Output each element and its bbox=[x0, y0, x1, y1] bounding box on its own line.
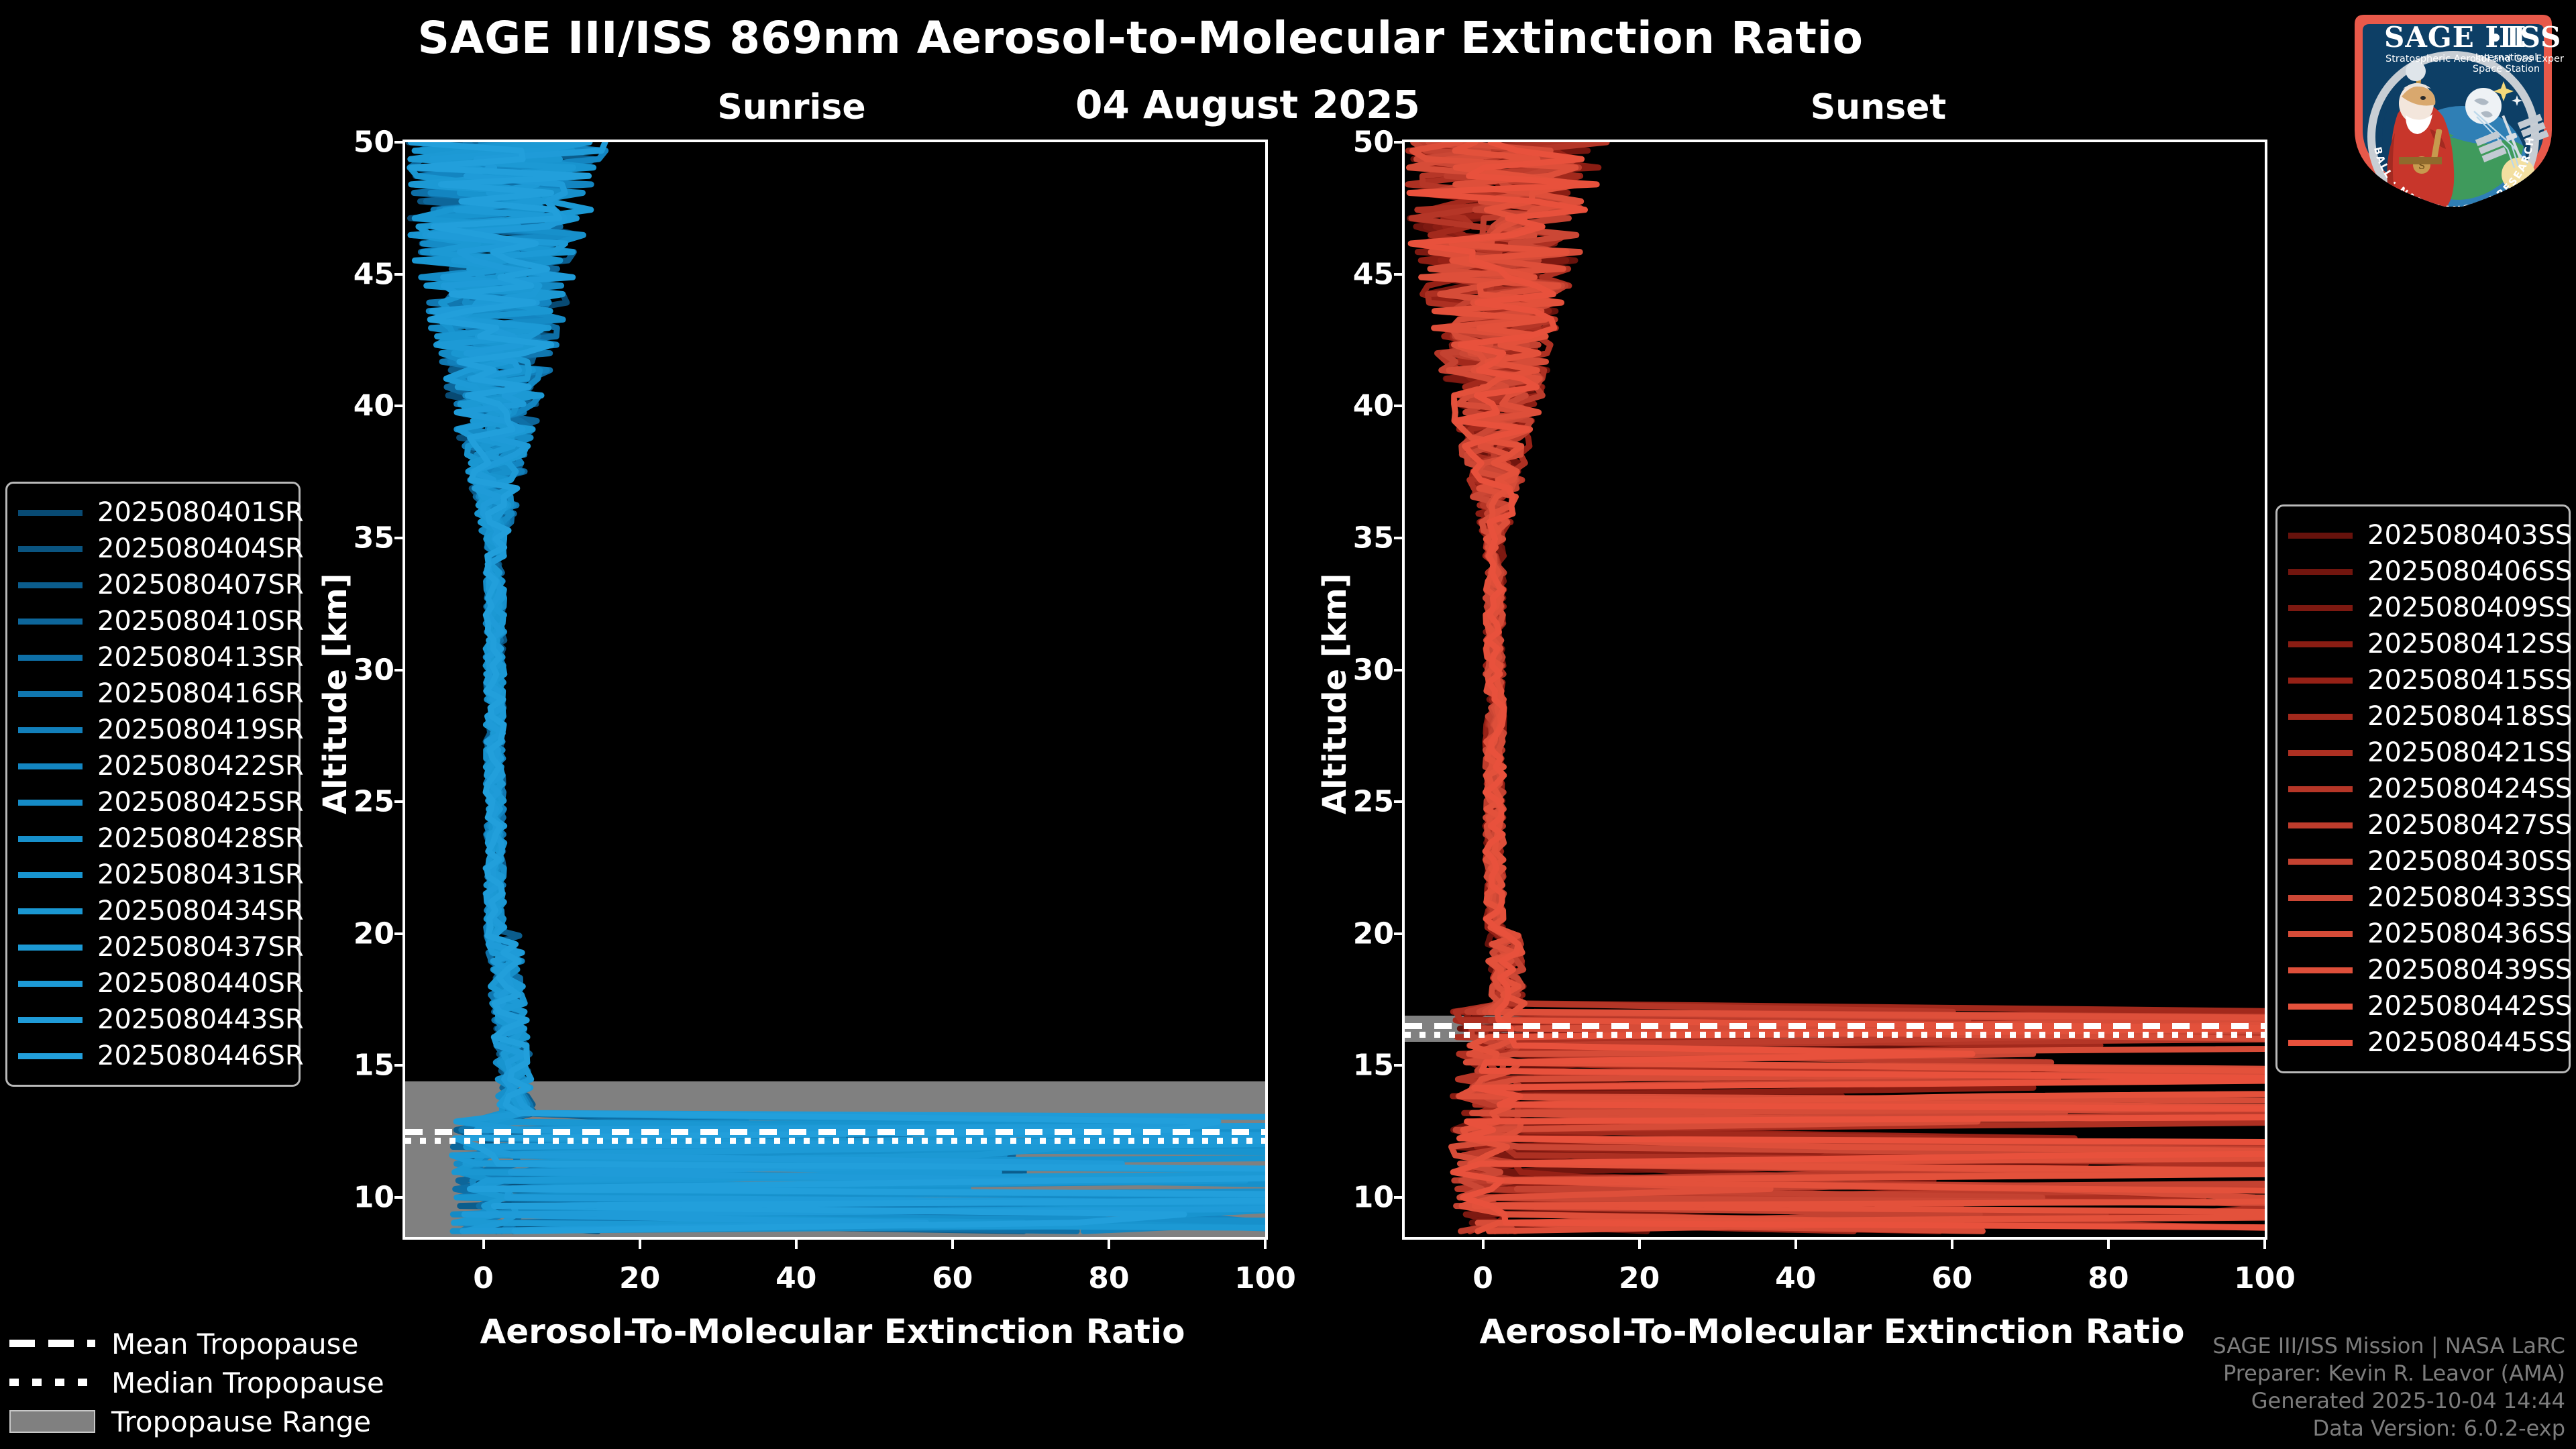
legend-label: 2025080407SR bbox=[97, 570, 304, 600]
y-axis-tick-label: 20 bbox=[1353, 916, 1394, 951]
credit-line-preparer: Preparer: Kevin R. Leavor (AMA) bbox=[2212, 1360, 2565, 1387]
legend-label: 2025080418SS bbox=[2367, 701, 2572, 732]
y-axis-tick-mark bbox=[1394, 537, 1405, 539]
legend-label: 2025080425SR bbox=[97, 787, 304, 818]
y-axis-tick-mark bbox=[394, 669, 405, 672]
legend-color-swatch bbox=[18, 619, 83, 625]
legend-color-swatch bbox=[2288, 1004, 2353, 1010]
x-axis-tick-label: 0 bbox=[473, 1261, 494, 1295]
y-axis-tick-label: 30 bbox=[354, 653, 394, 687]
legend-label: 2025080445SS bbox=[2367, 1027, 2572, 1058]
legend-item-2025080410SR[interactable]: 2025080410SR bbox=[18, 603, 284, 639]
legend-item-2025080401SR[interactable]: 2025080401SR bbox=[18, 494, 284, 531]
y-axis-tick-mark bbox=[394, 800, 405, 803]
legend-item-2025080439SS[interactable]: 2025080439SS bbox=[2288, 952, 2554, 988]
y-axis-tick-label: 10 bbox=[354, 1181, 394, 1215]
y-axis-tick-mark bbox=[394, 932, 405, 935]
legend-item-2025080427SS[interactable]: 2025080427SS bbox=[2288, 807, 2554, 843]
legend-label: 2025080439SS bbox=[2367, 955, 2572, 985]
legend-item-2025080419SR[interactable]: 2025080419SR bbox=[18, 712, 284, 748]
profile-line bbox=[420, 142, 1265, 1231]
legend-color-swatch bbox=[18, 510, 83, 516]
y-axis-tick-mark bbox=[394, 537, 405, 539]
x-axis-tick-label: 80 bbox=[2088, 1261, 2129, 1295]
sunrise-y-axis-label: Altitude [km] bbox=[317, 573, 354, 814]
legend-item-tropopause-range: Tropopause Range bbox=[9, 1402, 439, 1441]
y-axis-tick-label: 35 bbox=[1353, 521, 1394, 555]
y-axis-tick-mark bbox=[1394, 1064, 1405, 1067]
y-axis-tick-mark bbox=[1394, 669, 1405, 672]
legend-color-swatch bbox=[18, 727, 83, 733]
legend-label: 2025080421SS bbox=[2367, 737, 2572, 768]
sunrise-plot-area bbox=[405, 142, 1265, 1237]
y-axis-tick-label: 10 bbox=[1353, 1181, 1394, 1215]
y-axis-tick-label: 50 bbox=[354, 125, 394, 160]
credit-line-generated: Generated 2025-10-04 14:44 bbox=[2212, 1387, 2565, 1415]
x-axis-tick-label: 0 bbox=[1472, 1261, 1493, 1295]
dashed-line-key-icon bbox=[9, 1336, 95, 1351]
y-axis-tick-label: 25 bbox=[1353, 785, 1394, 819]
dotted-line-key-icon bbox=[9, 1375, 95, 1390]
y-axis-tick-label: 35 bbox=[354, 521, 394, 555]
x-axis-tick-mark bbox=[1482, 1237, 1485, 1249]
legend-item-2025080412SS[interactable]: 2025080412SS bbox=[2288, 626, 2554, 662]
sunset-plot-area bbox=[1405, 142, 2265, 1237]
legend-color-swatch bbox=[2288, 641, 2353, 647]
legend-label: 2025080404SR bbox=[97, 533, 304, 564]
x-axis-tick-mark bbox=[639, 1237, 641, 1249]
svg-text:SAGE III: SAGE III bbox=[2384, 21, 2526, 54]
y-axis-tick-label: 40 bbox=[1353, 389, 1394, 423]
y-axis-tick-label: 40 bbox=[354, 389, 394, 423]
legend-label: 2025080419SR bbox=[97, 714, 304, 745]
legend-color-swatch bbox=[2288, 967, 2353, 973]
legend-label: 2025080442SS bbox=[2367, 991, 2572, 1022]
y-axis-tick-label: 20 bbox=[354, 916, 394, 951]
x-axis-tick-mark bbox=[2107, 1237, 2110, 1249]
x-axis-tick-label: 20 bbox=[1619, 1261, 1660, 1295]
legend-label: 2025080413SR bbox=[97, 642, 304, 673]
legend-color-swatch bbox=[2288, 822, 2353, 828]
legend-label-mean-tropopause: Mean Tropopause bbox=[111, 1328, 358, 1360]
legend-color-swatch bbox=[2288, 786, 2353, 792]
legend-label: 2025080443SR bbox=[97, 1004, 304, 1035]
x-axis-tick-mark bbox=[482, 1237, 485, 1249]
sunrise-panel-title: Sunrise bbox=[604, 87, 979, 127]
x-axis-tick-label: 100 bbox=[2234, 1261, 2296, 1295]
legend-item-2025080425SR[interactable]: 2025080425SR bbox=[18, 784, 284, 820]
svg-text:Space Station: Space Station bbox=[2473, 64, 2540, 74]
sunset-legend[interactable]: 2025080403SS2025080406SS2025080409SS2025… bbox=[2275, 504, 2571, 1073]
legend-label: 2025080422SR bbox=[97, 751, 304, 782]
x-axis-tick-label: 60 bbox=[1931, 1261, 1972, 1295]
legend-label: 2025080433SS bbox=[2367, 882, 2572, 913]
legend-label: 2025080410SR bbox=[97, 606, 304, 637]
legend-color-swatch bbox=[2288, 569, 2353, 575]
profile-curves bbox=[405, 142, 1265, 1237]
y-axis-tick-mark bbox=[1394, 141, 1405, 144]
legend-label: 2025080436SS bbox=[2367, 918, 2572, 949]
legend-item-2025080407SR[interactable]: 2025080407SR bbox=[18, 567, 284, 603]
legend-item-median-tropopause: Median Tropopause bbox=[9, 1363, 439, 1402]
legend-item-2025080403SS[interactable]: 2025080403SS bbox=[2288, 517, 2554, 553]
y-axis-tick-mark bbox=[394, 405, 405, 407]
legend-item-2025080428SR[interactable]: 2025080428SR bbox=[18, 820, 284, 857]
legend-label: 2025080406SS bbox=[2367, 556, 2572, 587]
y-axis-tick-label: 50 bbox=[1353, 125, 1394, 160]
legend-label: 2025080401SR bbox=[97, 497, 304, 528]
svg-text:ISS: ISS bbox=[2506, 21, 2561, 54]
sunset-x-axis-label: Aerosol-To-Molecular Extinction Ratio bbox=[1402, 1312, 2262, 1351]
legend-color-swatch bbox=[2288, 750, 2353, 756]
legend-item-2025080436SS[interactable]: 2025080436SS bbox=[2288, 916, 2554, 952]
sunset-panel-title: Sunset bbox=[1690, 87, 2066, 127]
y-axis-tick-label: 45 bbox=[1353, 257, 1394, 291]
legend-label: 2025080430SS bbox=[2367, 846, 2572, 877]
y-axis-tick-label: 30 bbox=[1353, 653, 1394, 687]
y-axis-tick-label: 45 bbox=[354, 257, 394, 291]
x-axis-tick-mark bbox=[1638, 1237, 1641, 1249]
legend-color-swatch bbox=[18, 800, 83, 806]
legend-item-2025080409SS[interactable]: 2025080409SS bbox=[2288, 590, 2554, 626]
legend-label: 2025080424SS bbox=[2367, 773, 2572, 804]
y-axis-tick-label: 15 bbox=[1353, 1049, 1394, 1083]
legend-color-swatch bbox=[2288, 678, 2353, 684]
legend-item-2025080421SS[interactable]: 2025080421SS bbox=[2288, 735, 2554, 771]
legend-label: 2025080427SS bbox=[2367, 810, 2572, 841]
x-axis-tick-mark bbox=[951, 1237, 954, 1249]
legend-item-2025080424SS[interactable]: 2025080424SS bbox=[2288, 771, 2554, 807]
median-tropopause-line bbox=[1405, 1032, 2265, 1038]
legend-item-2025080418SS[interactable]: 2025080418SS bbox=[2288, 698, 2554, 735]
y-axis-tick-mark bbox=[394, 1064, 405, 1067]
legend-item-2025080413SR[interactable]: 2025080413SR bbox=[18, 639, 284, 676]
x-axis-tick-mark bbox=[1264, 1237, 1267, 1249]
legend-item-2025080404SR[interactable]: 2025080404SR bbox=[18, 531, 284, 567]
sunrise-x-axis-label: Aerosol-To-Molecular Extinction Ratio bbox=[402, 1312, 1263, 1351]
x-axis-tick-label: 100 bbox=[1234, 1261, 1296, 1295]
legend-color-swatch bbox=[2288, 859, 2353, 865]
legend-label: 2025080428SR bbox=[97, 823, 304, 854]
legend-item-2025080443SR[interactable]: 2025080443SR bbox=[18, 1002, 284, 1038]
legend-color-swatch bbox=[18, 691, 83, 697]
x-axis-tick-mark bbox=[1794, 1237, 1797, 1249]
legend-label: 2025080446SR bbox=[97, 1040, 304, 1071]
y-axis-tick-mark bbox=[1394, 405, 1405, 407]
legend-item-2025080442SS[interactable]: 2025080442SS bbox=[2288, 988, 2554, 1024]
credit-line-version: Data Version: 6.0.2-exp bbox=[2212, 1415, 2565, 1442]
x-axis-tick-mark bbox=[1951, 1237, 1953, 1249]
legend-label: 2025080415SS bbox=[2367, 665, 2572, 696]
sage-iii-iss-mission-patch-icon: S BALL · NASA LANGLEY RESEARCH CENTER · … bbox=[2343, 5, 2564, 207]
x-axis-tick-label: 80 bbox=[1088, 1261, 1129, 1295]
x-axis-tick-mark bbox=[795, 1237, 798, 1249]
legend-label: 2025080440SR bbox=[97, 968, 304, 999]
x-axis-tick-label: 20 bbox=[619, 1261, 660, 1295]
legend-color-swatch bbox=[18, 836, 83, 842]
legend-color-swatch bbox=[18, 763, 83, 769]
legend-color-swatch bbox=[18, 945, 83, 951]
legend-item-2025080431SR[interactable]: 2025080431SR bbox=[18, 857, 284, 893]
legend-color-swatch bbox=[2288, 533, 2353, 539]
x-axis-tick-mark bbox=[1108, 1237, 1110, 1249]
legend-color-swatch bbox=[18, 655, 83, 661]
legend-item-2025080446SR[interactable]: 2025080446SR bbox=[18, 1038, 284, 1074]
legend-item-2025080433SS[interactable]: 2025080433SS bbox=[2288, 879, 2554, 916]
y-axis-tick-mark bbox=[394, 141, 405, 144]
legend-item-2025080434SR[interactable]: 2025080434SR bbox=[18, 893, 284, 929]
legend-label: 2025080434SR bbox=[97, 896, 304, 926]
sunrise-legend[interactable]: 2025080401SR2025080404SR2025080407SR2025… bbox=[5, 482, 301, 1087]
legend-label: 2025080437SR bbox=[97, 932, 304, 963]
svg-text:International: International bbox=[2475, 52, 2538, 63]
gray-band-key-icon bbox=[9, 1414, 95, 1429]
legend-color-swatch bbox=[2288, 895, 2353, 901]
tropopause-legend: Mean Tropopause Median Tropopause Tropop… bbox=[9, 1324, 439, 1441]
legend-label-tropopause-range: Tropopause Range bbox=[111, 1405, 371, 1438]
legend-color-swatch bbox=[18, 1053, 83, 1059]
legend-color-swatch bbox=[18, 1017, 83, 1023]
credit-line-mission: SAGE III/ISS Mission | NASA LaRC bbox=[2212, 1332, 2565, 1360]
legend-color-swatch bbox=[18, 872, 83, 878]
mean-tropopause-line bbox=[1405, 1023, 2265, 1029]
legend-label: 2025080403SS bbox=[2367, 520, 2572, 551]
legend-item-2025080406SS[interactable]: 2025080406SS bbox=[2288, 553, 2554, 590]
profile-curves bbox=[1405, 142, 2265, 1237]
sunset-y-axis-label: Altitude [km] bbox=[1316, 573, 1354, 814]
legend-label: 2025080412SS bbox=[2367, 629, 2572, 659]
x-axis-tick-label: 40 bbox=[1775, 1261, 1816, 1295]
legend-item-mean-tropopause: Mean Tropopause bbox=[9, 1324, 439, 1363]
x-axis-tick-label: 40 bbox=[775, 1261, 816, 1295]
legend-item-2025080440SR[interactable]: 2025080440SR bbox=[18, 965, 284, 1002]
legend-label-median-tropopause: Median Tropopause bbox=[111, 1366, 384, 1399]
legend-color-swatch bbox=[18, 981, 83, 987]
legend-label: 2025080416SR bbox=[97, 678, 304, 709]
y-axis-tick-mark bbox=[1394, 273, 1405, 276]
legend-color-swatch bbox=[2288, 605, 2353, 611]
mean-tropopause-line bbox=[405, 1129, 1265, 1135]
x-axis-tick-label: 60 bbox=[932, 1261, 973, 1295]
legend-color-swatch bbox=[2288, 714, 2353, 720]
median-tropopause-line bbox=[405, 1138, 1265, 1144]
legend-item-2025080430SS[interactable]: 2025080430SS bbox=[2288, 843, 2554, 879]
y-axis-tick-label: 15 bbox=[354, 1049, 394, 1083]
legend-item-2025080416SR[interactable]: 2025080416SR bbox=[18, 676, 284, 712]
legend-color-swatch bbox=[18, 546, 83, 552]
y-axis-tick-mark bbox=[394, 273, 405, 276]
page-title: SAGE III/ISS 869nm Aerosol-to-Molecular … bbox=[0, 12, 2281, 64]
legend-color-swatch bbox=[18, 582, 83, 588]
legend-item-2025080445SS[interactable]: 2025080445SS bbox=[2288, 1024, 2554, 1061]
y-axis-tick-label: 25 bbox=[354, 785, 394, 819]
y-axis-tick-mark bbox=[1394, 800, 1405, 803]
legend-label: 2025080431SR bbox=[97, 859, 304, 890]
sunset-plot-panel: 101520253035404550020406080100 bbox=[1402, 140, 2267, 1240]
credits-block: SAGE III/ISS Mission | NASA LaRC Prepare… bbox=[2212, 1332, 2565, 1442]
legend-color-swatch bbox=[18, 908, 83, 914]
legend-color-swatch bbox=[2288, 931, 2353, 937]
y-axis-tick-mark bbox=[1394, 1196, 1405, 1199]
legend-item-2025080437SR[interactable]: 2025080437SR bbox=[18, 929, 284, 965]
x-axis-tick-mark bbox=[2263, 1237, 2266, 1249]
date-subtitle: 04 August 2025 bbox=[939, 82, 1556, 127]
y-axis-tick-mark bbox=[394, 1196, 405, 1199]
sunrise-plot-panel: 101520253035404550020406080100 bbox=[402, 140, 1268, 1240]
legend-item-2025080415SS[interactable]: 2025080415SS bbox=[2288, 662, 2554, 698]
y-axis-tick-mark bbox=[1394, 932, 1405, 935]
legend-item-2025080422SR[interactable]: 2025080422SR bbox=[18, 748, 284, 784]
legend-label: 2025080409SS bbox=[2367, 592, 2572, 623]
legend-color-swatch bbox=[2288, 1040, 2353, 1046]
